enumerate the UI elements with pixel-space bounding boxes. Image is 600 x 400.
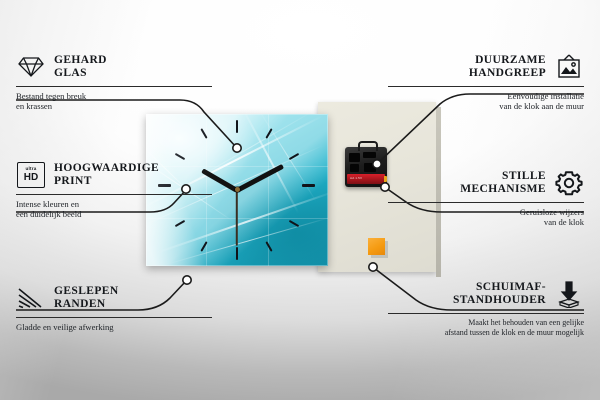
feature-description: Geruisloze wijzers van de klok: [388, 207, 584, 228]
clock-hand-pivot: [235, 187, 240, 192]
movement-slot: [363, 152, 376, 158]
feature-schuimafstandhouder: SCHUIMAF- STANDHOUDER Maakt het behouden…: [388, 279, 584, 338]
battery-label: AA 1.5V: [350, 176, 362, 180]
feature-description: Gladde en veilige afwerking: [16, 322, 212, 332]
gear-icon: [554, 168, 584, 198]
hd-label: HD: [24, 173, 38, 183]
down-arrow-block-icon: [554, 279, 584, 309]
divider: [388, 313, 584, 314]
clock-second-hand: [236, 190, 238, 246]
feature-description: Intense kleuren en een duidelijk beeld: [16, 199, 212, 220]
feature-title: GEHARD GLAS: [54, 54, 107, 80]
picture-hanger-icon: [554, 52, 584, 82]
movement-slot: [350, 164, 359, 172]
divider: [388, 202, 584, 203]
foam-spacer-pad: [368, 238, 385, 255]
feature-stille-mechanisme: STILLE MECHANISME Geruisloze wijzers van…: [388, 168, 584, 228]
feature-duurzame-handgreep: DUURZAME HANDGREEP Eenvoudige installati…: [388, 52, 584, 112]
feature-geslepen-randen: GESLEPEN RANDEN Gladde en veilige afwerk…: [16, 283, 212, 332]
diamond-icon: [16, 52, 46, 82]
ultra-hd-icon: ultra HD: [16, 160, 46, 190]
clock-battery: AA 1.5V: [347, 174, 385, 184]
clock-minute-hand: [236, 164, 284, 193]
diagonal-lines-icon: [16, 283, 46, 313]
feature-title: SCHUIMAF- STANDHOUDER: [453, 281, 546, 307]
feature-title: GESLEPEN RANDEN: [54, 285, 119, 311]
infographic-canvas: AA 1.5V: [0, 0, 600, 400]
feature-title: HOOGWAARDIGE PRINT: [54, 162, 159, 188]
divider: [388, 86, 584, 87]
movement-hook-icon: [358, 141, 378, 151]
clock-movement: AA 1.5V: [345, 147, 387, 187]
divider: [16, 194, 212, 195]
feature-gehard-glas: GEHARD GLAS Bestand tegen breuk en krass…: [16, 52, 212, 112]
feature-hoogwaardige-print: ultra HD HOOGWAARDIGE PRINT Intense kleu…: [16, 160, 212, 220]
feature-title: STILLE MECHANISME: [460, 170, 546, 196]
feature-description: Maakt het behouden van een gelijke afsta…: [388, 318, 584, 338]
feature-title: DUURZAME HANDGREEP: [469, 54, 546, 80]
divider: [16, 86, 212, 87]
divider: [16, 317, 212, 318]
movement-slot: [364, 163, 376, 172]
movement-slot: [349, 153, 360, 162]
feature-description: Eenvoudige installatie van de klok aan d…: [388, 91, 584, 112]
feature-description: Bestand tegen breuk en krassen: [16, 91, 212, 112]
